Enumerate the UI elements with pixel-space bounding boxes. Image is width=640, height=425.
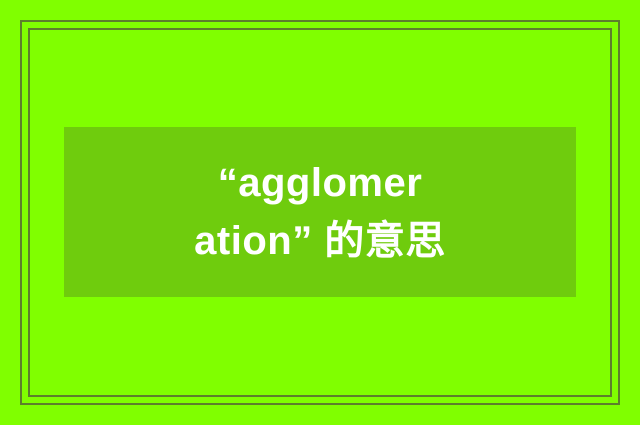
title-line-1: “agglomer	[218, 154, 423, 212]
title-panel: “agglomer ation” 的意思	[64, 127, 576, 297]
title-line-2: ation” 的意思	[194, 212, 446, 270]
poster-canvas: “agglomer ation” 的意思	[0, 0, 640, 425]
